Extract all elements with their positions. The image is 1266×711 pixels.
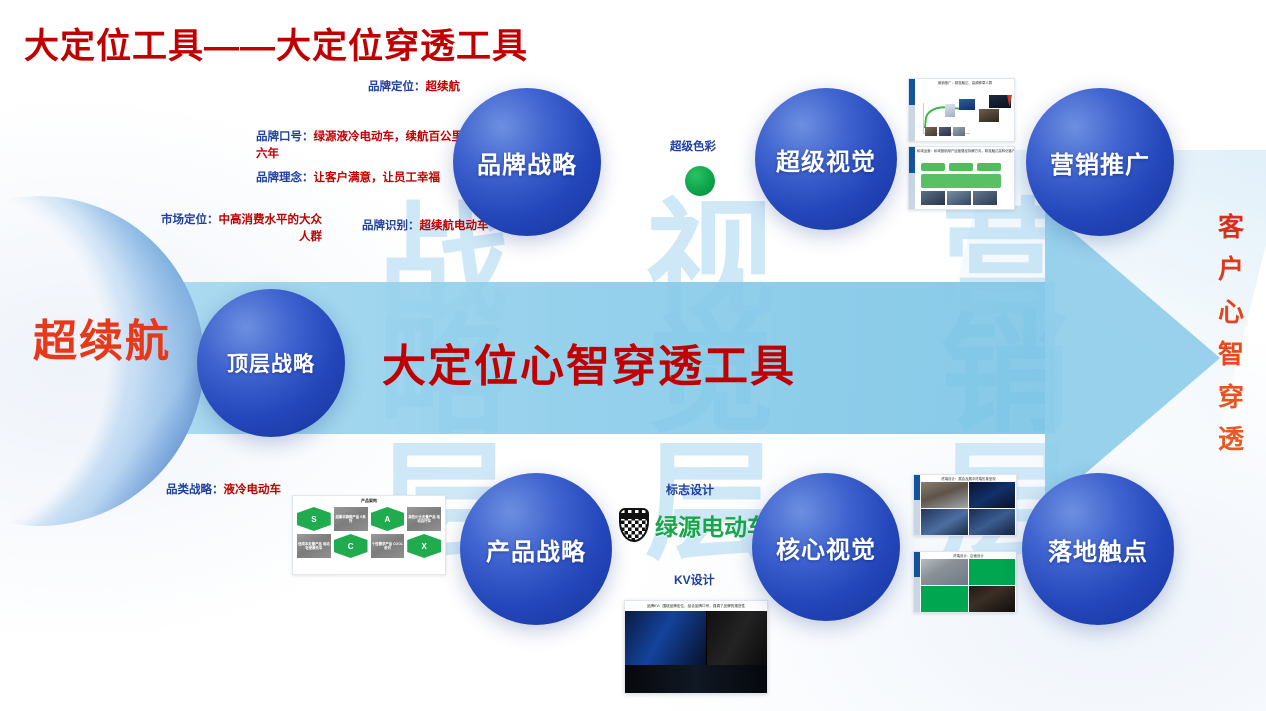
thumbnail-store-caption: 终端设计：店面设计 — [914, 552, 1016, 559]
matrix-node: 高性价比走量产品 电动自行车 — [407, 507, 441, 531]
vert-char-4: 智 — [1208, 333, 1254, 375]
matrix-node: 超豪华旗舰产品 S系列 — [334, 507, 368, 531]
slide-canvas: 战 略 视 觉 营 销 层 层 层 大定位工具——大定位穿透工具 大定位心智穿透… — [0, 0, 1266, 711]
matrix-node: 低成本走量产品 电动轻便摩托车 — [297, 534, 331, 558]
thumb-photo — [969, 586, 1016, 612]
thumbnail-kv-board[interactable]: 品牌KV：围绕品牌定位，结合品牌口号，强调了品牌的规范性 — [624, 600, 768, 694]
label-brand-identity-key: 品牌识别： — [362, 220, 420, 232]
kv-bottom-banner — [625, 665, 767, 694]
kv-photo — [625, 611, 706, 665]
shield-icon — [619, 508, 649, 542]
thumbnail-marketing-journey[interactable]: 营销推广：精准触达、高频种草人群 — [908, 78, 1015, 142]
matrix-node: S — [297, 507, 331, 531]
page-title: 大定位工具——大定位穿透工具 — [24, 18, 528, 69]
thumbnail-expo[interactable]: 终端设计：展会及展中终端形象呈现 — [913, 474, 1017, 536]
thumbnail-product-matrix[interactable]: 产品架构 S 超豪华旗舰产品 S系列 A 高性价比走量产品 电动自行车 低成本走… — [292, 495, 446, 575]
label-brand-identity-value: 超续航电动车 — [420, 220, 489, 232]
thumb-photo-grid — [914, 559, 1016, 613]
thumb-photo — [969, 559, 1016, 585]
thumb-photo-grid — [914, 482, 1016, 536]
sphere-marketing-label: 营销推广 — [1050, 145, 1150, 180]
thumb-photo — [969, 509, 1016, 535]
thumb-photo — [921, 482, 968, 508]
sphere-super-visual-label: 超级视觉 — [776, 142, 876, 177]
left-keyword: 超续航 — [32, 318, 172, 366]
thumb-sidebar — [909, 79, 915, 141]
label-brand-position-key: 品牌定位： — [368, 81, 426, 93]
label-super-color: 超级色彩 — [670, 139, 716, 156]
thumb-photo — [969, 482, 1016, 508]
label-logo-design: 标志设计 — [666, 482, 714, 499]
center-title: 大定位心智穿透工具 — [382, 330, 796, 394]
sphere-product-strategy[interactable]: 产品战略 — [460, 473, 612, 625]
label-kv-design: KV设计 — [674, 572, 715, 589]
label-market-position: 市场定位：中高消费水平的大众人群 — [156, 212, 322, 245]
sphere-marketing[interactable]: 营销推广 — [1026, 88, 1174, 236]
label-brand-idea-value: 让客户满意，让员工幸福 — [314, 172, 441, 184]
thumb-sidebar — [909, 147, 915, 209]
label-logo-design-text: 标志设计 — [666, 483, 714, 497]
thumbnail-store[interactable]: 终端设计：店面设计 — [913, 551, 1017, 613]
thumb-photo — [921, 586, 968, 612]
thumbnail-marketing-funnel[interactable]: 私域运营：私域营销用户运营路径拆解方向，精准触达高转化客户群 — [908, 146, 1015, 210]
vert-char-3: 心 — [1208, 291, 1254, 333]
sphere-super-visual[interactable]: 超级视觉 — [755, 88, 897, 230]
label-kv-design-text: KV设计 — [674, 573, 715, 587]
matrix-node: C — [334, 534, 368, 558]
label-super-color-text: 超级色彩 — [670, 141, 716, 153]
matrix-node: 个性需求产品 COOL系列 — [371, 534, 405, 558]
label-brand-position-value: 超续航 — [426, 81, 461, 93]
super-color-swatch — [685, 166, 715, 196]
thumb-sidebar — [914, 552, 920, 612]
brand-logo: 绿源电动车 — [619, 508, 770, 542]
label-market-position-value: 中高消费水平的大众人群 — [219, 214, 323, 243]
thumbnail-expo-caption: 终端设计：展会及展中终端形象呈现 — [914, 475, 1016, 482]
sphere-product-strategy-label: 产品战略 — [486, 532, 586, 567]
label-category-strategy-key: 品类战略： — [166, 484, 224, 496]
thumb-photo — [921, 509, 968, 535]
label-brand-idea-key: 品牌理念： — [256, 172, 314, 184]
vert-char-1: 客 — [1208, 206, 1254, 248]
label-category-strategy-value: 液冷电动车 — [224, 484, 282, 496]
product-matrix-grid: S 超豪华旗舰产品 S系列 A 高性价比走量产品 电动自行车 低成本走量产品 电… — [293, 504, 445, 562]
matrix-node: A — [371, 507, 405, 531]
product-matrix-title: 产品架构 — [293, 496, 445, 504]
vert-char-6: 透 — [1208, 418, 1254, 460]
label-market-position-key: 市场定位： — [161, 214, 219, 226]
thumb-sidebar — [914, 475, 920, 535]
matrix-node: X — [407, 534, 441, 558]
sphere-touchpoints[interactable]: 落地触点 — [1022, 473, 1174, 625]
thumbnail-kv-caption: 品牌KV：围绕品牌定位，结合品牌口号，强调了品牌的规范性 — [625, 601, 767, 611]
sphere-brand-strategy[interactable]: 品牌战略 — [453, 88, 601, 236]
sphere-core-visual-label: 核心视觉 — [776, 530, 876, 565]
label-brand-slogan-key: 品牌口号： — [256, 131, 314, 143]
thumbnail-marketing-funnel-caption: 私域运营：私域营销用户运营路径拆解方向，精准触达高转化客户群 — [909, 147, 1014, 154]
thumb-photo — [921, 559, 968, 585]
thumbnail-marketing-journey-caption: 营销推广：精准触达、高频种草人群 — [909, 79, 1014, 86]
sphere-top-strategy[interactable]: 顶层战略 — [197, 289, 345, 437]
kv-photo — [707, 611, 767, 665]
vert-char-5: 穿 — [1208, 376, 1254, 418]
sphere-top-strategy-label: 顶层战略 — [227, 348, 315, 378]
kv-top-row — [625, 611, 767, 665]
sphere-brand-strategy-label: 品牌战略 — [477, 145, 577, 180]
sphere-core-visual[interactable]: 核心视觉 — [752, 473, 900, 621]
sphere-touchpoints-label: 落地触点 — [1048, 532, 1148, 567]
right-vertical-keyword: 客 户 心 智 穿 透 — [1208, 206, 1254, 460]
vert-char-2: 户 — [1208, 248, 1254, 290]
